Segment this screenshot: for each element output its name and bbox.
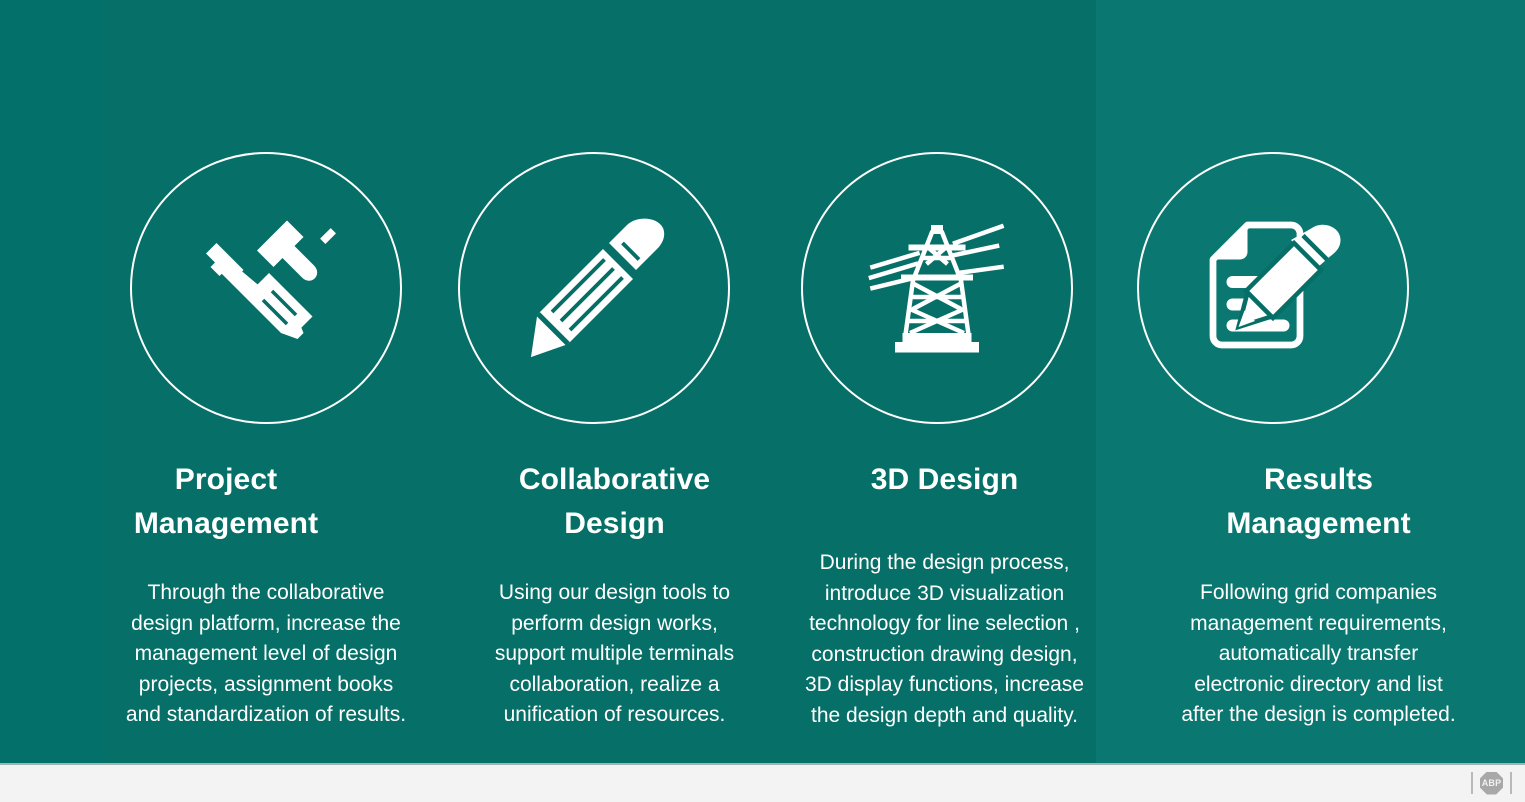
- feature-body-results-management: Following grid companies management requ…: [1127, 578, 1510, 731]
- feature-title-project-management: Project Management: [0, 458, 452, 546]
- feature-title-3d-design: 3D Design: [777, 458, 1112, 502]
- feature-body-line: During the design process,: [777, 548, 1112, 579]
- feature-body-line: electronic directory and list: [1127, 670, 1510, 701]
- feature-body-line: introduce 3D visualization: [777, 579, 1112, 610]
- tools-hammer-screwdriver-icon: [191, 213, 341, 363]
- feature-body-3d-design: During the design process, introduce 3D …: [777, 548, 1112, 731]
- toolbar-separator-left: [1471, 772, 1473, 794]
- feature-body-line: technology for line selection ,: [777, 609, 1112, 640]
- feature-title-line-1: 3D Design: [777, 458, 1112, 502]
- feature-column-3d-design: 3D Design During the design process, int…: [777, 0, 1112, 764]
- feature-body-line: collaboration, realize a: [462, 670, 767, 701]
- feature-body-line: Using our design tools to: [462, 578, 767, 609]
- feature-body-line: the design depth and quality.: [777, 701, 1112, 732]
- feature-body-line: Following grid companies: [1127, 578, 1510, 609]
- document-with-pencil-icon: [1198, 213, 1348, 363]
- icon-circle-3d-design: [801, 152, 1073, 424]
- feature-body-line: support multiple terminals: [462, 639, 767, 670]
- feature-body-line: automatically transfer: [1127, 639, 1510, 670]
- feature-body-project-management: Through the collaborative design platfor…: [92, 578, 440, 731]
- icon-circle-results-management: [1137, 152, 1409, 424]
- feature-body-line: construction drawing design,: [777, 640, 1112, 671]
- feature-body-line: after the design is completed.: [1127, 700, 1510, 731]
- feature-title-line-1: Project: [0, 458, 452, 502]
- pencil-icon: [519, 213, 669, 363]
- feature-title-line-1: Results: [1112, 458, 1525, 502]
- feature-column-results-management: Results Management Following grid compan…: [1112, 0, 1525, 764]
- feature-title-collaborative-design: Collaborative Design: [452, 458, 777, 546]
- feature-title-results-management: Results Management: [1112, 458, 1525, 546]
- feature-body-line: unification of resources.: [462, 700, 767, 731]
- feature-body-line: management level of design: [92, 639, 440, 670]
- icon-circle-project-management: [130, 152, 402, 424]
- feature-body-line: projects, assignment books: [92, 670, 440, 701]
- adblock-plus-icon[interactable]: ABP: [1480, 772, 1503, 795]
- toolbar-separator-right: [1510, 772, 1512, 794]
- feature-title-line-2: Management: [0, 502, 452, 546]
- browser-extension-area: ABP: [1464, 769, 1519, 797]
- feature-body-line: design platform, increase the: [92, 609, 440, 640]
- feature-title-line-2: Management: [1112, 502, 1525, 546]
- feature-title-line-1: Collaborative: [452, 458, 777, 502]
- feature-body-line: Through the collaborative: [92, 578, 440, 609]
- feature-body-line: perform design works,: [462, 609, 767, 640]
- icon-circle-collaborative-design: [458, 152, 730, 424]
- feature-column-collaborative-design: Collaborative Design Using our design to…: [452, 0, 777, 764]
- feature-column-project-management: Project Management Through the collabora…: [0, 0, 452, 764]
- feature-columns: Project Management Through the collabora…: [0, 0, 1525, 764]
- feature-body-line: 3D display functions, increase: [777, 670, 1112, 701]
- feature-title-line-2: Design: [452, 502, 777, 546]
- feature-body-collaborative-design: Using our design tools to perform design…: [462, 578, 767, 731]
- slide-root: Project Management Through the collabora…: [0, 0, 1525, 802]
- browser-bottom-bar: ABP: [0, 765, 1525, 802]
- feature-body-line: management requirements,: [1127, 609, 1510, 640]
- feature-body-line: and standardization of results.: [92, 700, 440, 731]
- transmission-tower-icon: [862, 213, 1012, 363]
